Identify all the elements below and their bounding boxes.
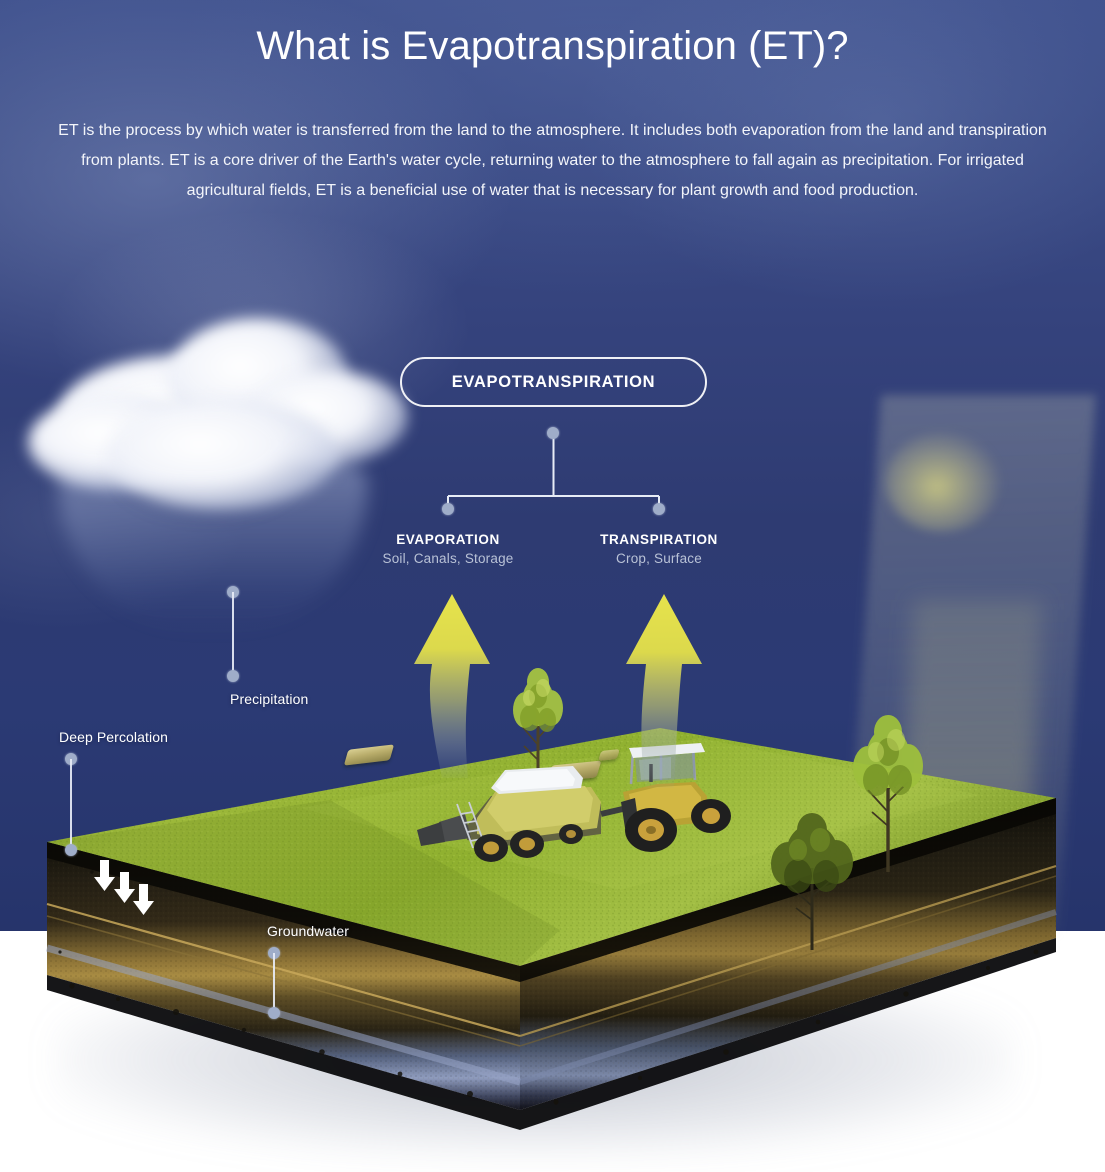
callout-precipitation: Precipitation	[230, 691, 308, 707]
tree-right-lower	[760, 790, 870, 950]
cloud-puff	[108, 400, 338, 510]
callout-deep-percolation: Deep Percolation	[59, 729, 168, 745]
deep-percolation-connector	[70, 759, 72, 848]
page-title: What is Evapotranspiration (ET)?	[0, 22, 1105, 70]
precipitation-connector	[232, 592, 234, 674]
evaporation-arrow	[408, 578, 528, 778]
branch-evaporation-subtitle: Soil, Canals, Storage	[338, 549, 558, 568]
transpiration-arrow	[616, 578, 736, 788]
rain-cloud	[18, 300, 418, 630]
branch-transpiration: TRANSPIRATION Crop, Surface	[549, 531, 769, 568]
branch-transpiration-subtitle: Crop, Surface	[549, 549, 769, 568]
evapotranspiration-label: EVAPOTRANSPIRATION	[452, 373, 656, 392]
node-dot-evaporation	[442, 503, 454, 515]
page-description: ET is the process by which water is tran…	[42, 116, 1063, 206]
ground-block	[0, 690, 1105, 1172]
branch-evaporation-title: EVAPORATION	[338, 531, 558, 549]
node-dot-transpiration	[653, 503, 665, 515]
callout-groundwater: Groundwater	[267, 923, 349, 939]
sun-glow	[885, 432, 1000, 532]
branch-evaporation: EVAPORATION Soil, Canals, Storage	[338, 531, 558, 568]
groundwater-connector	[273, 953, 275, 1011]
node-dot-precipitation-bottom	[227, 670, 239, 682]
node-dot-root	[547, 427, 559, 439]
node-dot-deep-percolation-bottom	[65, 844, 77, 856]
branch-transpiration-title: TRANSPIRATION	[549, 531, 769, 549]
infographic-page: What is Evapotranspiration (ET)? ET is t…	[0, 0, 1105, 1172]
node-dot-groundwater-bottom	[268, 1007, 280, 1019]
evapotranspiration-pill[interactable]: EVAPOTRANSPIRATION	[400, 357, 707, 407]
